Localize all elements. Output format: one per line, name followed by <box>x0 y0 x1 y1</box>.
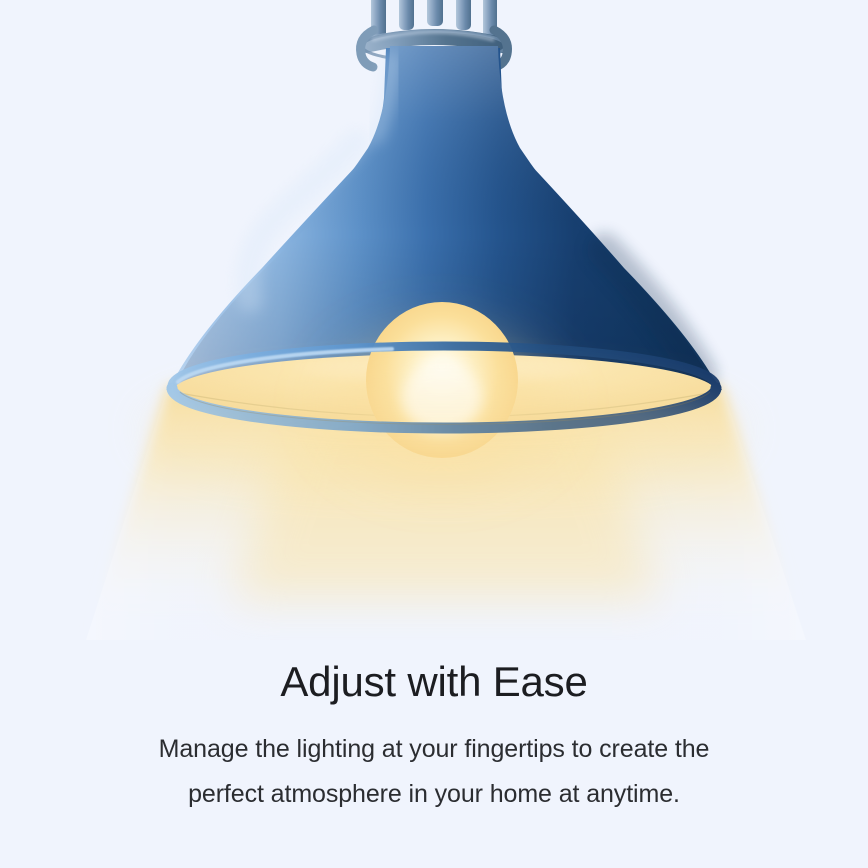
body-copy-line-2: perfect atmosphere in your home at anyti… <box>90 772 778 817</box>
cage-bar-3 <box>427 0 443 26</box>
hero-illustration <box>0 0 868 640</box>
cage-bar-4 <box>456 0 471 30</box>
headline: Adjust with Ease <box>0 660 868 705</box>
body-copy-line-1: Manage the lighting at your fingertips t… <box>90 727 778 772</box>
body-copy: Manage the lighting at your fingertips t… <box>0 727 868 817</box>
pendant-lamp-graphic <box>0 0 868 640</box>
hero-copy: Adjust with Ease Manage the lighting at … <box>0 640 868 817</box>
hero-page: Adjust with Ease Manage the lighting at … <box>0 0 868 868</box>
cage-bar-2 <box>399 0 414 30</box>
ambient-spill <box>144 378 744 482</box>
